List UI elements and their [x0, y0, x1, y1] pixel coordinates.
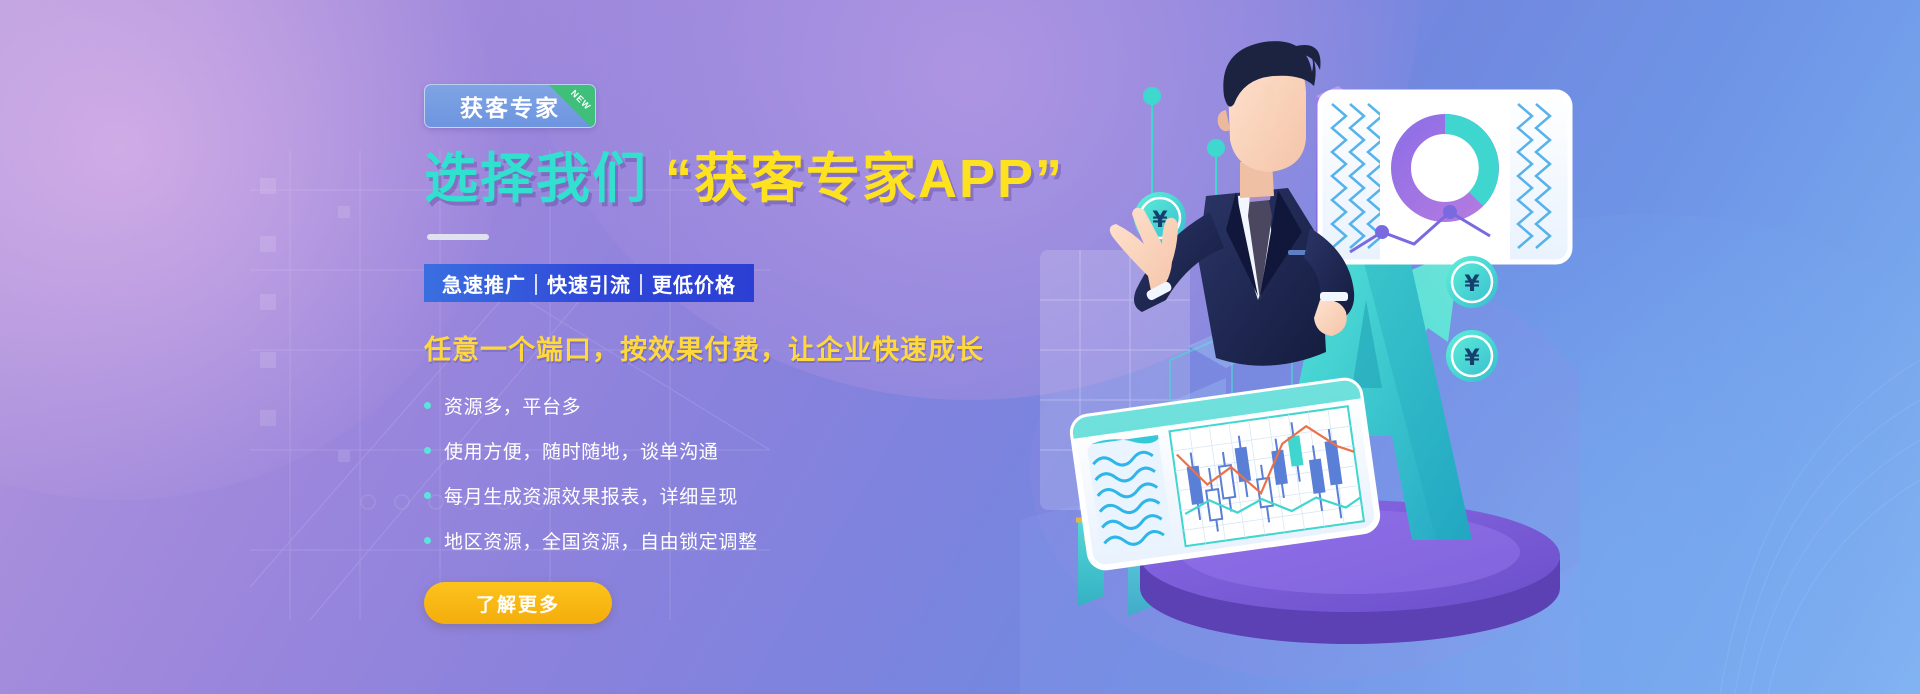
- dot-stem-markers: [1152, 88, 1268, 330]
- list-item-label: 使用方便，随时随地，谈单沟通: [444, 437, 718, 464]
- feature-strip: 急速推广｜快速引流｜更低价格: [424, 264, 754, 302]
- list-item: 地区资源，全国资源，自由锁定调整: [424, 527, 1044, 554]
- promo-banner: 获客专家 NEW 选择我们 “获客专家APP” 急速推广｜快速引流｜更低价格 任…: [0, 0, 1920, 694]
- gear-icon: [1076, 490, 1136, 550]
- tech-grid-right-decoration: [1280, 0, 1920, 694]
- learn-more-button[interactable]: 了解更多: [424, 582, 612, 624]
- candlestick-chart-card: [1071, 379, 1379, 570]
- businessman-character: [1110, 41, 1354, 546]
- headline-part-highlight: “获客专家APP”: [665, 149, 1064, 209]
- background-glow-right: [1200, 214, 1920, 694]
- podium: [1140, 500, 1560, 644]
- bullet-dot-icon: [424, 402, 431, 409]
- donut-chart-card: [1320, 92, 1570, 262]
- hero-illustration: ¥ ¥ ¥ ¥: [1020, 0, 1580, 694]
- svg-text:¥: ¥: [1464, 272, 1480, 297]
- letter-a-pedestal: [1266, 178, 1472, 540]
- svg-text:¥: ¥: [1201, 418, 1219, 448]
- list-item: 使用方便，随时随地，谈单沟通: [424, 437, 1044, 464]
- list-item-label: 每月生成资源效果报表，详细呈现: [444, 482, 738, 509]
- banner-copy-column: 获客专家 NEW 选择我们 “获客专家APP” 急速推广｜快速引流｜更低价格 任…: [424, 84, 1044, 624]
- page-title: 选择我们 “获客专家APP”: [424, 150, 1044, 208]
- svg-text:¥: ¥: [1464, 346, 1480, 371]
- list-item-label: 资源多，平台多: [444, 392, 581, 419]
- product-badge-wrapper: 获客专家 NEW: [424, 84, 596, 128]
- product-badge-label: 获客专家: [460, 89, 560, 123]
- yen-coin-badge: ¥: [1446, 256, 1498, 308]
- list-item: 资源多，平台多: [424, 392, 1044, 419]
- list-item-label: 地区资源，全国资源，自由锁定调整: [444, 527, 758, 554]
- feature-bullet-list: 资源多，平台多 使用方便，随时随地，谈单沟通 每月生成资源效果报表，详细呈现 地…: [424, 392, 1044, 554]
- title-underline-divider: [427, 234, 489, 240]
- headline-part-primary: 选择我们: [424, 149, 648, 209]
- bullet-dot-icon: [424, 537, 431, 544]
- bullet-dot-icon: [424, 447, 431, 454]
- product-badge: 获客专家 NEW: [424, 84, 596, 128]
- list-item: 每月生成资源效果报表，详细呈现: [424, 482, 1044, 509]
- bar-chart-columns: [1078, 86, 1350, 616]
- growth-arrow-icon: [1320, 250, 1460, 448]
- tagline: 任意一个端口，按效果付费，让企业快速成长: [424, 328, 1044, 367]
- yen-coin-badge: ¥: [1180, 400, 1240, 460]
- yen-coin-badge: ¥: [1134, 192, 1186, 244]
- svg-text:¥: ¥: [1152, 208, 1168, 233]
- new-ribbon-label: NEW: [569, 88, 593, 112]
- yen-coin-badge: ¥: [1446, 330, 1498, 382]
- bullet-dot-icon: [424, 492, 431, 499]
